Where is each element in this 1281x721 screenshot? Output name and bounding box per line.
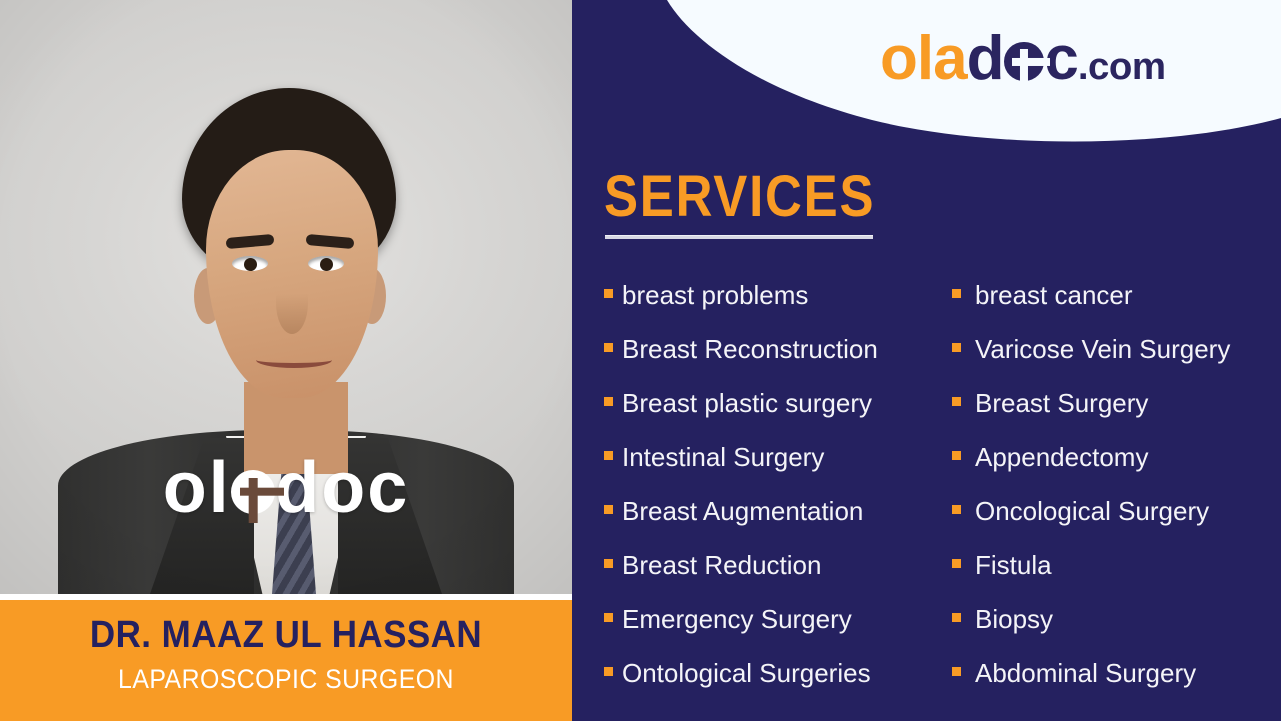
bullet-square-icon [604, 343, 613, 352]
logo-text-d: d [967, 24, 1004, 93]
service-label: Biopsy [975, 606, 1053, 632]
service-label: Fistula [975, 552, 1052, 578]
service-label: Emergency Surgery [622, 606, 852, 632]
bullet-square-icon [604, 505, 613, 514]
service-item: breast cancer [952, 282, 1272, 336]
bullet-square-icon [604, 397, 613, 406]
service-label: Appendectomy [975, 444, 1148, 470]
service-item: Appendectomy [952, 444, 1272, 498]
service-label: Breast plastic surgery [622, 390, 872, 416]
logo-text-com: .com [1078, 45, 1166, 88]
service-item: Abdominal Surgery [952, 660, 1272, 714]
service-item: Oncological Surgery [952, 498, 1272, 552]
services-list-left: breast problems Breast Reconstruction Br… [604, 282, 934, 714]
o-with-plus-icon [1004, 42, 1044, 82]
service-item: Varicose Vein Surgery [952, 336, 1272, 390]
service-label: Abdominal Surgery [975, 660, 1196, 686]
bullet-square-icon [604, 451, 613, 460]
service-label: Varicose Vein Surgery [975, 336, 1230, 362]
services-heading: SERVICES [604, 168, 875, 226]
service-item: Breast Reduction [604, 552, 934, 606]
service-item: Intestinal Surgery [604, 444, 934, 498]
oladoc-logo[interactable]: oladc.com [880, 28, 1166, 90]
service-item: Ontological Surgeries [604, 660, 934, 714]
bullet-square-icon [604, 289, 613, 298]
service-item: Breast Reconstruction [604, 336, 934, 390]
bullet-square-icon [952, 559, 961, 568]
service-label: breast problems [622, 282, 808, 308]
doctor-name-banner: DR. MAAZ UL HASSAN LAPAROSCOPIC SURGEON [0, 600, 572, 721]
service-label: Breast Surgery [975, 390, 1148, 416]
service-item: Breast plastic surgery [604, 390, 934, 444]
service-item: Emergency Surgery [604, 606, 934, 660]
service-label: Breast Augmentation [622, 498, 863, 524]
services-heading-rule [605, 235, 873, 239]
doctor-profile-card: oldoc DR. MAAZ UL HASSAN LAPAROSCOPIC SU… [0, 0, 1281, 721]
service-item: breast problems [604, 282, 934, 336]
service-item: Fistula [952, 552, 1272, 606]
service-item: Biopsy [952, 606, 1272, 660]
services-list-right: breast cancer Varicose Vein Surgery Brea… [952, 282, 1272, 714]
bullet-square-icon [952, 289, 961, 298]
logo-text-ola: ola [880, 24, 967, 93]
service-label: Intestinal Surgery [622, 444, 824, 470]
bullet-square-icon [952, 343, 961, 352]
bullet-square-icon [952, 613, 961, 622]
service-label: breast cancer [975, 282, 1133, 308]
watermark-text-ol: ol [163, 448, 231, 528]
bullet-square-icon [952, 397, 961, 406]
bullet-square-icon [604, 559, 613, 568]
service-label: Oncological Surgery [975, 498, 1209, 524]
bullet-square-icon [952, 667, 961, 676]
doctor-specialty: LAPAROSCOPIC SURGEON [23, 665, 549, 693]
photo-watermark-oladoc: oldoc [0, 452, 572, 524]
service-label: Ontological Surgeries [622, 660, 871, 686]
bullet-square-icon [952, 451, 961, 460]
doctor-photo: oldoc [0, 0, 572, 594]
doctor-name: DR. MAAZ UL HASSAN [23, 616, 549, 656]
watermark-text-doc: doc [275, 448, 409, 528]
service-label: Breast Reconstruction [622, 336, 878, 362]
bullet-square-icon [604, 613, 613, 622]
service-item: Breast Surgery [952, 390, 1272, 444]
service-item: Breast Augmentation [604, 498, 934, 552]
service-label: Breast Reduction [622, 552, 821, 578]
bullet-square-icon [604, 667, 613, 676]
o-with-plus-icon [231, 470, 276, 515]
bullet-square-icon [952, 505, 961, 514]
